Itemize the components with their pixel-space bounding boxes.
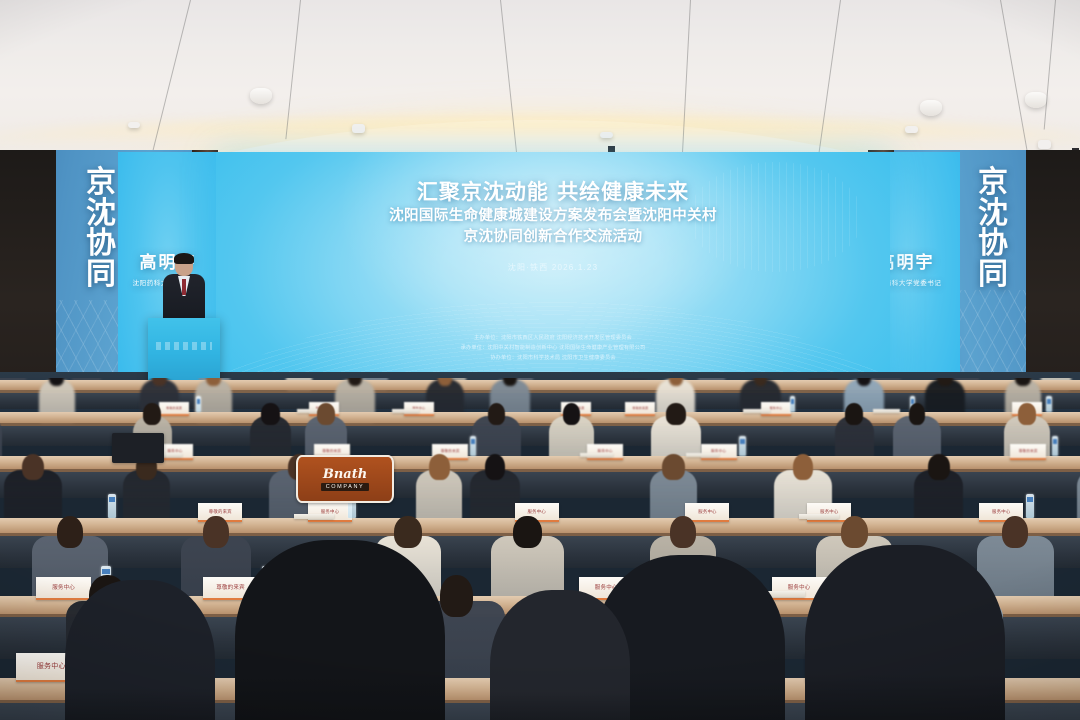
water-bottle bbox=[1052, 436, 1059, 456]
name-card-text: 服务中心 bbox=[770, 406, 783, 410]
audience-member-head bbox=[670, 516, 696, 549]
pendant-light-cone bbox=[250, 88, 272, 104]
speaker-hair bbox=[174, 253, 194, 264]
audience-member-head bbox=[928, 454, 949, 480]
banner-right-jingshen-xietong: 京沈协同 bbox=[978, 168, 1008, 290]
audience-member-head bbox=[488, 403, 506, 424]
audience-member-head bbox=[669, 378, 683, 386]
speaker-at-podium bbox=[163, 255, 205, 325]
desk-documents bbox=[294, 514, 334, 519]
ceiling-speaker bbox=[1038, 140, 1051, 149]
audience-member-head bbox=[909, 403, 926, 424]
audience-member-head bbox=[203, 516, 228, 549]
name-card-text: 服务中心 bbox=[37, 661, 66, 671]
foreground-attendee bbox=[490, 590, 630, 720]
name-card-text: 尊敬的来宾 bbox=[441, 449, 460, 454]
ceiling-speaker bbox=[352, 124, 365, 133]
audience-member-head bbox=[845, 403, 863, 424]
name-card-text: 尊敬的来宾 bbox=[166, 406, 182, 410]
jacket-brand-script: Bnath bbox=[323, 468, 367, 481]
audience-member-head bbox=[793, 454, 813, 480]
water-bottle bbox=[470, 436, 477, 456]
audience-member-head bbox=[666, 403, 686, 424]
dark-wall-band-left bbox=[0, 150, 56, 400]
banner-char: 同 bbox=[86, 260, 116, 291]
dark-wall-band-right bbox=[1026, 150, 1080, 400]
jacket-logo-patch: Bnath COMPANY bbox=[296, 455, 394, 503]
organizer-line-1: 主办单位：沈阳市铁西区人民政府 沈阳经济技术开发区管理委员会 bbox=[216, 334, 890, 344]
audience-member-head bbox=[394, 516, 422, 549]
banner-char: 协 bbox=[86, 229, 116, 260]
event-title: 汇聚京沈动能 共绘健康未来 bbox=[216, 176, 890, 206]
foreground-attendee bbox=[65, 580, 215, 720]
audience-member-head bbox=[261, 403, 280, 424]
name-card-text: 尊敬的来宾 bbox=[1019, 449, 1038, 454]
desk-documents bbox=[392, 409, 419, 412]
name-card-text: 服务中心 bbox=[52, 583, 75, 591]
water-bottle bbox=[1026, 494, 1034, 518]
banner-char: 京 bbox=[978, 168, 1008, 199]
desk-name-card: 尊敬的来宾 bbox=[159, 402, 189, 416]
event-date-location: 沈阳·铁西 2026.1.23 bbox=[216, 262, 890, 273]
name-card-text: 服务中心 bbox=[698, 509, 716, 515]
desk-name-card: 尊敬的来宾 bbox=[625, 402, 655, 416]
jacket-brand-sub: COMPANY bbox=[321, 483, 370, 491]
water-bottle bbox=[196, 396, 201, 412]
laptop bbox=[112, 433, 164, 463]
pendant-light-cone bbox=[1025, 92, 1047, 108]
audience-member-head bbox=[317, 403, 335, 424]
name-card-text: 尊敬的来宾 bbox=[322, 449, 341, 454]
water-bottle bbox=[108, 494, 116, 518]
audience-member-head bbox=[440, 575, 473, 617]
banner-char: 同 bbox=[978, 260, 1008, 291]
banner-char: 沈 bbox=[978, 199, 1008, 230]
desk-documents bbox=[799, 514, 839, 519]
audience-member-head bbox=[1002, 516, 1028, 549]
ceiling bbox=[0, 0, 1080, 168]
ceiling-speaker bbox=[128, 122, 140, 128]
desk-name-card: 服务中心 bbox=[36, 577, 91, 600]
organizer-line-2: 承办单位：沈阳中关村智能制造创新中心 沈阳国际生命健康产业管理有限公司 bbox=[216, 344, 890, 354]
audience-member-head bbox=[57, 516, 83, 549]
audience-member-head bbox=[438, 378, 452, 386]
podium bbox=[148, 318, 220, 382]
audience-member-head bbox=[563, 403, 580, 424]
audience-member-head bbox=[22, 454, 45, 480]
ceiling-speaker bbox=[905, 126, 918, 133]
water-bottle bbox=[790, 396, 795, 412]
banner-char: 京 bbox=[86, 168, 116, 199]
banner-left-jingshen-xietong: 京沈协同 bbox=[86, 168, 116, 290]
ceiling-speaker bbox=[600, 132, 613, 138]
audience-member-head bbox=[662, 454, 685, 480]
event-subtitle: 沈阳国际生命健康城建设方案发布会暨沈阳中关村 京沈协同创新合作交流活动 bbox=[216, 206, 890, 248]
audience-member-head bbox=[143, 403, 161, 424]
desk-name-card: 服务中心 bbox=[308, 503, 352, 522]
podium-text-strip bbox=[156, 342, 212, 350]
water-bottle bbox=[739, 436, 746, 456]
speaker-tie bbox=[182, 279, 186, 295]
desk-documents bbox=[580, 453, 613, 457]
organizers-block: 主办单位：沈阳市铁西区人民政府 沈阳经济技术开发区管理委员会 承办单位：沈阳中关… bbox=[216, 334, 890, 364]
conference-hall-photo: 京沈协同 共创未来 共创未来 京沈协同 高明宇 沈阳药科大学党委书记 高明宇 沈… bbox=[0, 0, 1080, 720]
name-card-text: 尊敬的来宾 bbox=[216, 583, 245, 591]
event-subtitle-line2: 京沈协同创新合作交流活动 bbox=[216, 227, 890, 248]
event-subtitle-line1: 沈阳国际生命健康城建设方案发布会暨沈阳中关村 bbox=[216, 206, 890, 227]
name-card-text: 尊敬的来宾 bbox=[632, 406, 648, 410]
name-card-text: 尊敬的来宾 bbox=[209, 509, 232, 515]
water-bottle bbox=[1046, 396, 1051, 412]
desk-documents bbox=[686, 453, 719, 457]
banner-char: 沈 bbox=[86, 199, 116, 230]
pendant-light-cone bbox=[920, 100, 942, 116]
desk-name-card: 服务中心 bbox=[685, 503, 729, 522]
banner-char: 协 bbox=[978, 229, 1008, 260]
audience-member-head bbox=[513, 516, 541, 549]
foreground-attendee bbox=[805, 545, 1005, 720]
name-card-text: 服务中心 bbox=[992, 509, 1010, 515]
desk-name-card: 尊敬的来宾 bbox=[1010, 444, 1046, 460]
organizer-line-3: 协办单位：沈阳市科学技术局 沈阳市卫生健康委员会 bbox=[216, 354, 890, 364]
desk-documents bbox=[743, 409, 770, 412]
desk-documents bbox=[873, 409, 900, 412]
audience-member-head bbox=[1018, 403, 1036, 424]
audience-member-head bbox=[485, 454, 505, 480]
audience-seating: 尊敬的来宾尊敬的来宾服务中心尊敬的来宾尊敬的来宾服务中心服务中心服务中心尊敬的来… bbox=[0, 378, 1080, 720]
audience-member-head bbox=[429, 454, 450, 480]
name-card-text: 服务中心 bbox=[528, 509, 546, 515]
cove-light bbox=[0, 118, 1080, 144]
audience-member-head bbox=[841, 516, 868, 549]
main-led-screen: 汇聚京沈动能 共绘健康未来 沈阳国际生命健康城建设方案发布会暨沈阳中关村 京沈协… bbox=[216, 152, 890, 392]
foreground-attendee bbox=[235, 540, 445, 720]
